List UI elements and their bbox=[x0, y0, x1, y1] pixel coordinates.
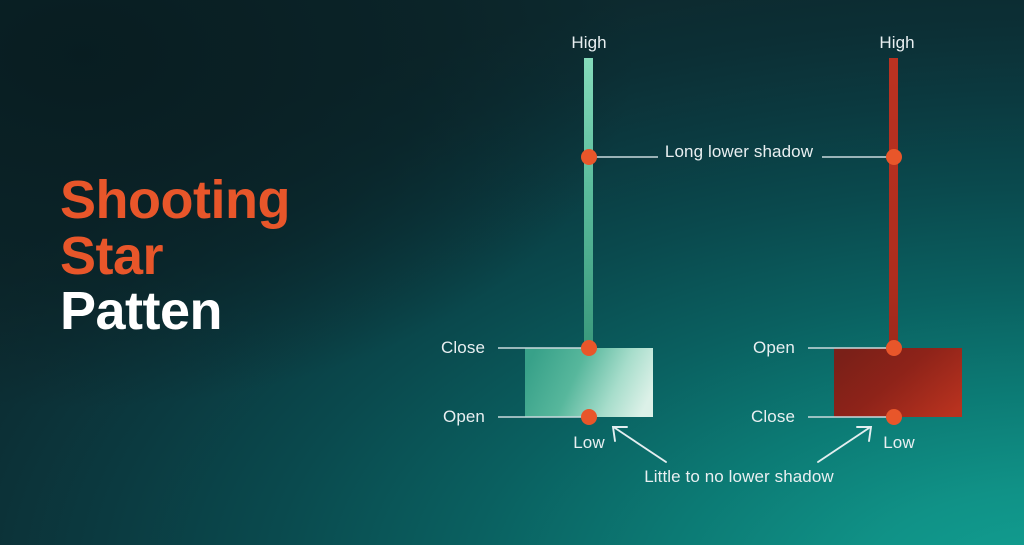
label-red-low: Low bbox=[883, 433, 915, 453]
marker-dot-red-close bbox=[886, 409, 902, 425]
arrow-to-red-low bbox=[818, 427, 871, 462]
annotation-little-no-lower-shadow: Little to no lower shadow bbox=[629, 466, 849, 489]
marker-dot-red-open bbox=[886, 340, 902, 356]
marker-dot-green-close bbox=[581, 340, 597, 356]
label-red-close: Close bbox=[751, 407, 795, 427]
green-candle-body bbox=[525, 348, 653, 417]
candlestick-diagram bbox=[0, 0, 1024, 545]
red-candle-body bbox=[834, 348, 962, 417]
annotation-long-lower-shadow: Long lower shadow bbox=[644, 141, 834, 164]
marker-dot-green-shadow bbox=[581, 149, 597, 165]
label-red-open: Open bbox=[753, 338, 795, 358]
marker-dot-red-shadow bbox=[886, 149, 902, 165]
label-green-open: Open bbox=[443, 407, 485, 427]
marker-dot-green-open bbox=[581, 409, 597, 425]
label-green-close: Close bbox=[441, 338, 485, 358]
infographic-canvas: Shooting Star Patten bbox=[0, 0, 1024, 545]
label-red-high: High bbox=[879, 33, 914, 53]
label-green-low: Low bbox=[573, 433, 605, 453]
arrow-to-green-low bbox=[613, 427, 666, 462]
label-green-high: High bbox=[571, 33, 606, 53]
